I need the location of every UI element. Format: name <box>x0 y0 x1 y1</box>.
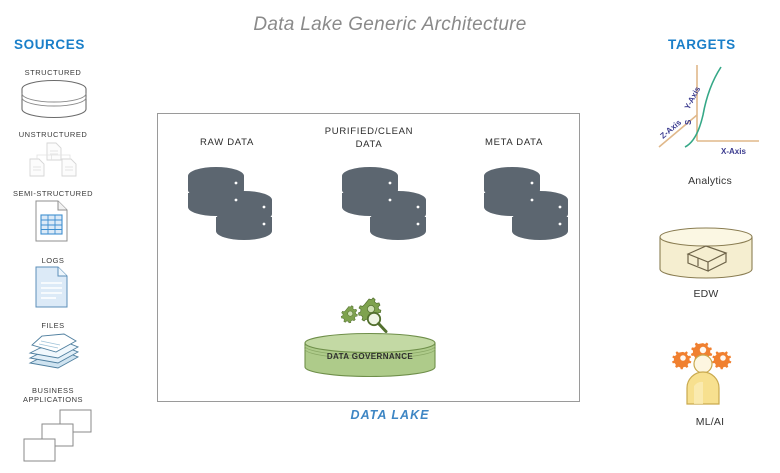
source-label-business-applications: BUSINESS APPLICATIONS <box>0 386 113 405</box>
page-title: Data Lake Generic Architecture <box>0 14 780 36</box>
warehouse-cylinder-icon <box>658 228 754 284</box>
gears-magnifier-icon <box>347 297 393 337</box>
database-stack-icon-raw <box>186 166 274 250</box>
source-label-semi-structured: SEMI-STRUCTURED <box>0 189 113 198</box>
source-label-logs: LOGS <box>0 256 113 265</box>
source-label-structured: STRUCTURED <box>0 68 113 77</box>
zone-label-purified-clean-data: PURIFIED/CLEAN DATA <box>304 126 434 152</box>
diagram-canvas: Data Lake Generic Architecture SOURCES S… <box>0 0 780 473</box>
business-apps-line2: APPLICATIONS <box>23 395 83 404</box>
log-document-icon <box>34 266 70 308</box>
file-stack-icon <box>28 332 80 370</box>
purified-line2: DATA <box>356 139 383 150</box>
svg-text:Y-Axis: Y-Axis <box>683 85 703 111</box>
target-label-analytics: Analytics <box>640 175 780 187</box>
sources-heading: SOURCES <box>14 37 85 52</box>
spreadsheet-document-icon <box>34 200 70 242</box>
business-apps-line1: BUSINESS <box>32 386 74 395</box>
database-stack-icon-meta <box>482 166 570 250</box>
database-cylinder-icon <box>20 79 88 121</box>
svg-text:S: S <box>684 119 693 125</box>
svg-text:X-Axis: X-Axis <box>721 147 746 156</box>
person-gears-icon <box>667 336 741 408</box>
source-label-files: FILES <box>0 321 113 330</box>
targets-heading: TARGETS <box>668 37 736 52</box>
purified-line1: PURIFIED/CLEAN <box>325 126 413 137</box>
target-label-edw: EDW <box>636 288 776 300</box>
zone-label-raw-data: RAW DATA <box>162 137 292 150</box>
axis-chart-icon: Y-Axis X-Axis Z-Axis S <box>655 55 763 150</box>
source-label-unstructured: UNSTRUCTURED <box>0 130 113 139</box>
data-governance-label: DATA GOVERNANCE <box>290 352 450 361</box>
zone-label-meta-data: META DATA <box>449 137 579 150</box>
target-label-mlai: ML/AI <box>640 416 780 428</box>
database-stack-icon-purified <box>340 166 428 250</box>
documents-group-icon <box>26 142 82 182</box>
